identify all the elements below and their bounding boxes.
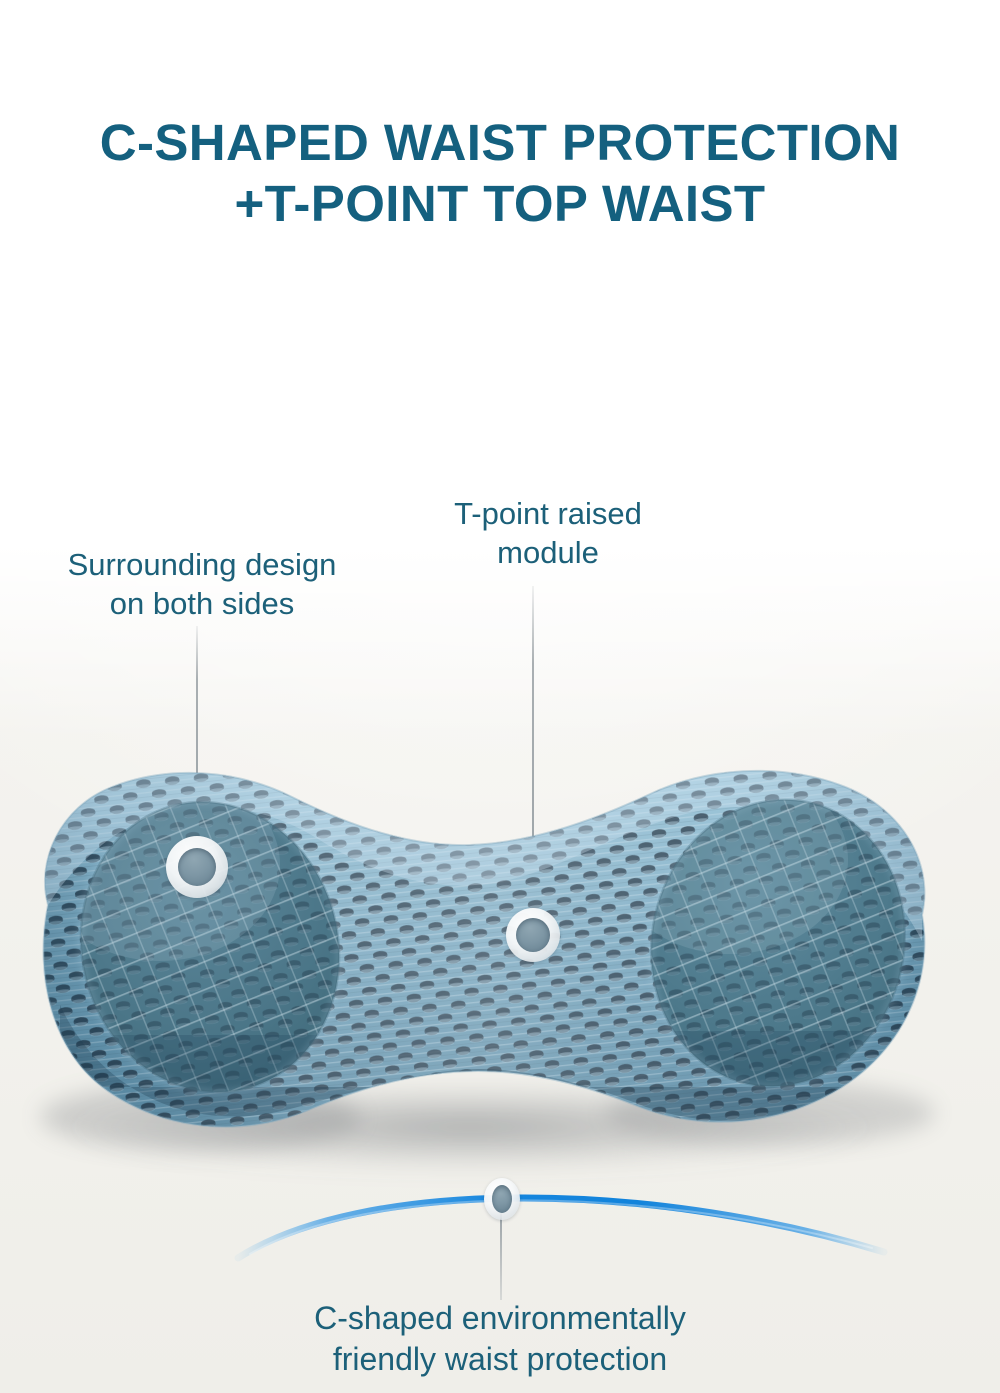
page-title-line-2: +T-POINT TOP WAIST — [0, 173, 1000, 234]
callout-mid-line-1: T-point raised — [398, 494, 698, 533]
marker-dot-icon — [492, 1185, 512, 1213]
grommet-hole-icon — [178, 848, 216, 886]
grommet-hole-icon — [516, 918, 550, 952]
callout-mid-line-2: module — [398, 533, 698, 572]
page-title-line-1: C-SHAPED WAIST PROTECTION — [100, 114, 901, 171]
background-top-band — [0, 0, 1000, 42]
callout-bottom-line-1: C-shaped environmentally — [248, 1298, 752, 1339]
page-title: C-SHAPED WAIST PROTECTION +T-POINT TOP W… — [0, 112, 1000, 234]
callout-label-c-shaped-protection: C-shaped environmentally friendly waist … — [248, 1298, 752, 1380]
grommet-marker-left-side[interactable] — [166, 836, 228, 898]
callout-left-line-1: Surrounding design — [22, 545, 382, 584]
callout-bottom-line-2: friendly waist protection — [248, 1339, 752, 1380]
callout-label-t-point-module: T-point raised module — [398, 494, 698, 572]
callout-left-line-2: on both sides — [22, 584, 382, 623]
callout-label-surrounding-design: Surrounding design on both sides — [22, 545, 382, 623]
infographic-page: C-SHAPED WAIST PROTECTION +T-POINT TOP W… — [0, 0, 1000, 1393]
marker-dot-c-shape[interactable] — [484, 1178, 520, 1220]
grommet-marker-t-point[interactable] — [506, 908, 560, 962]
